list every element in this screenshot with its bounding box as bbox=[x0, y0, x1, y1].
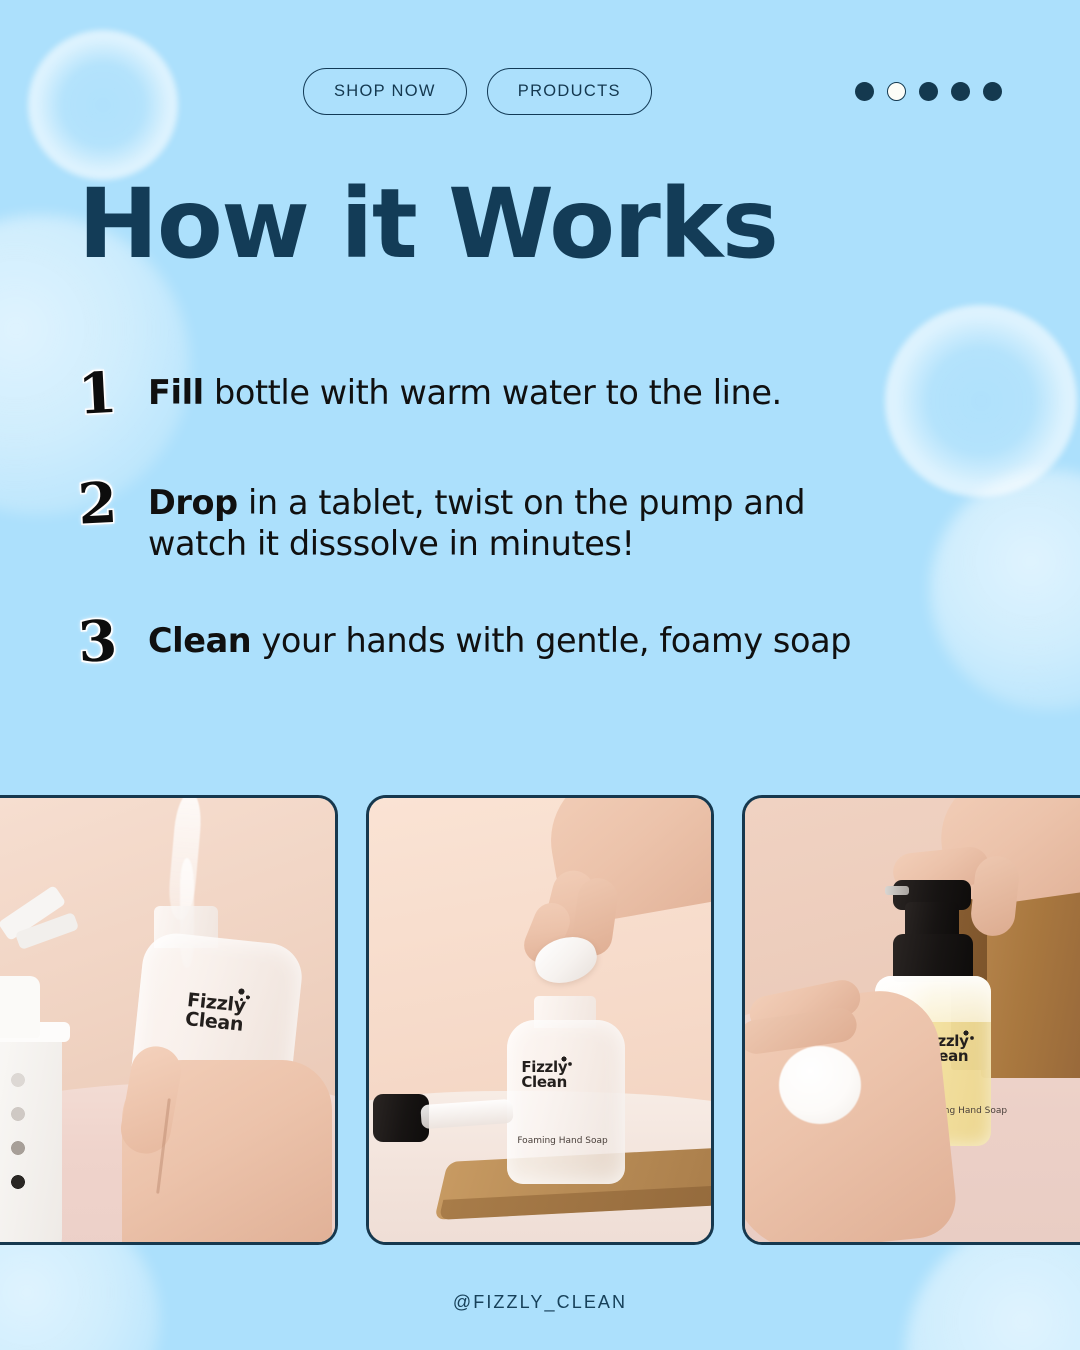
step-number: 3 bbox=[77, 611, 150, 670]
step-body-text: your hands with gentle, foamy soap bbox=[251, 621, 851, 660]
brand-line-2: Clean bbox=[521, 1075, 567, 1090]
step-body-text: in a tablet, twist on the pump and watch… bbox=[148, 483, 805, 563]
photo-scene: Fizzly Clean Foaming Hand Soap bbox=[0, 798, 335, 1242]
photo-foam-blob bbox=[779, 1046, 861, 1124]
photo-white-bottle bbox=[0, 976, 40, 1038]
sparkle-icon bbox=[561, 1056, 574, 1069]
nav-pill-group: SHOP NOW PRODUCTS bbox=[303, 68, 652, 115]
step-lead-word: Drop bbox=[148, 483, 238, 522]
photo-pump-foam[interactable]: Fizzly Clean Foaming Hand Soap bbox=[742, 795, 1080, 1245]
pagination-dot-1[interactable] bbox=[855, 82, 874, 101]
step-item: 3 Clean your hands with gentle, foamy so… bbox=[78, 613, 978, 668]
sparkle-icon bbox=[963, 1030, 976, 1043]
pagination-dot-3[interactable] bbox=[919, 82, 938, 101]
photo-scene: Fizzly Clean Foaming Hand Soap bbox=[369, 798, 710, 1242]
step-text: Clean your hands with gentle, foamy soap bbox=[148, 613, 851, 662]
step-body-text: bottle with warm water to the line. bbox=[204, 373, 782, 412]
steps-list: 1 Fill bottle with warm water to the lin… bbox=[78, 365, 978, 708]
photo-pump-cap bbox=[893, 934, 973, 982]
step-lead-word: Fill bbox=[148, 373, 204, 412]
photo-fill-bottle[interactable]: Fizzly Clean Foaming Hand Soap bbox=[0, 795, 338, 1245]
products-button[interactable]: PRODUCTS bbox=[487, 68, 652, 115]
pagination-dot-2-active[interactable] bbox=[887, 82, 906, 101]
top-navigation-bar: SHOP NOW PRODUCTS bbox=[0, 0, 1080, 160]
pagination-dot-5[interactable] bbox=[983, 82, 1002, 101]
social-handle: @FIZZLY_CLEAN bbox=[0, 1292, 1080, 1313]
photo-drop-tablet[interactable]: Fizzly Clean Foaming Hand Soap bbox=[366, 795, 713, 1245]
photo-gallery: Fizzly Clean Foaming Hand Soap bbox=[0, 795, 1080, 1245]
photo-scene: Fizzly Clean Foaming Hand Soap bbox=[745, 798, 1080, 1242]
step-item: 1 Fill bottle with warm water to the lin… bbox=[78, 365, 978, 420]
step-item: 2 Drop in a tablet, twist on the pump an… bbox=[78, 475, 978, 565]
sparkle-icon bbox=[236, 987, 254, 1005]
page-title: How it Works bbox=[78, 176, 777, 272]
step-number: 2 bbox=[77, 473, 150, 532]
step-number: 1 bbox=[77, 363, 150, 422]
step-text: Fill bottle with warm water to the line. bbox=[148, 365, 782, 414]
pagination-dot-4[interactable] bbox=[951, 82, 970, 101]
step-text: Drop in a tablet, twist on the pump and … bbox=[148, 475, 878, 565]
photo-product-label: Foaming Hand Soap bbox=[517, 1136, 607, 1146]
photo-bottle-body bbox=[507, 1020, 625, 1184]
shop-now-button[interactable]: SHOP NOW bbox=[303, 68, 467, 115]
step-lead-word: Clean bbox=[148, 621, 251, 660]
carousel-pagination-dots[interactable] bbox=[855, 82, 1002, 101]
photo-caddy-holes bbox=[0, 1066, 60, 1216]
photo-pump-spout bbox=[885, 886, 909, 895]
